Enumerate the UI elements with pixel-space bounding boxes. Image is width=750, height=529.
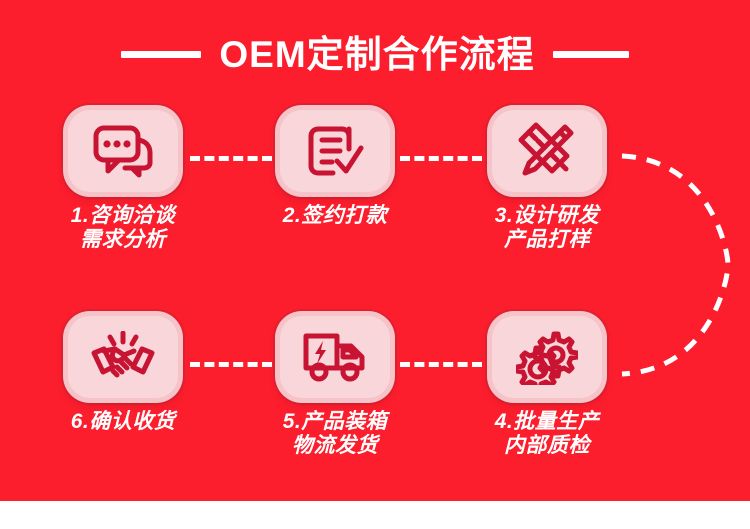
oem-process-poster: OEM定制合作流程: [0, 0, 750, 529]
step-3-label-line1: 3.设计研发: [495, 204, 600, 227]
step-3[interactable]: 3.设计研发 产品打样: [472, 110, 622, 253]
step-3-label-line2: 产品打样: [472, 228, 622, 252]
step-6[interactable]: 6.确认收货: [48, 316, 198, 434]
chat-bubbles-icon: [92, 124, 154, 178]
step-5-label: 5.产品装箱 物流发货: [260, 410, 410, 459]
handshake-icon: [91, 331, 155, 383]
connector-step4-step5: [400, 362, 482, 367]
connector-step2-step3: [400, 156, 482, 161]
connector-step3-step4-arc: [600, 120, 750, 410]
step-3-card: [492, 110, 602, 192]
step-4-card: [492, 316, 602, 398]
gears-icon: [516, 329, 578, 385]
step-1[interactable]: 1.咨询洽谈 需求分析: [48, 110, 198, 253]
step-3-label: 3.设计研发 产品打样: [472, 204, 622, 253]
step-6-card: [68, 316, 178, 398]
step-6-label: 6.确认收货: [48, 410, 198, 434]
step-4[interactable]: 4.批量生产 内部质检: [472, 316, 622, 459]
step-4-label: 4.批量生产 内部质检: [472, 410, 622, 459]
document-check-icon: [306, 123, 364, 179]
step-4-label-line2: 内部质检: [472, 434, 622, 458]
step-5[interactable]: 5.产品装箱 物流发货: [260, 316, 410, 459]
step-5-card: [280, 316, 390, 398]
step-1-label-line2: 需求分析: [48, 228, 198, 252]
step-1-label: 1.咨询洽谈 需求分析: [48, 204, 198, 253]
step-6-label-line1: 6.确认收货: [71, 410, 176, 433]
step-4-label-line1: 4.批量生产: [495, 410, 600, 433]
pencil-ruler-icon: [518, 122, 576, 180]
step-1-label-line1: 1.咨询洽谈: [71, 204, 176, 227]
step-5-label-line1: 5.产品装箱: [283, 410, 388, 433]
step-2[interactable]: 2.签约打款: [260, 110, 410, 228]
step-2-card: [280, 110, 390, 192]
step-2-label-line1: 2.签约打款: [283, 204, 388, 227]
step-1-card: [68, 110, 178, 192]
step-5-label-line2: 物流发货: [260, 434, 410, 458]
delivery-truck-icon: [302, 332, 368, 382]
step-2-label: 2.签约打款: [260, 204, 410, 228]
